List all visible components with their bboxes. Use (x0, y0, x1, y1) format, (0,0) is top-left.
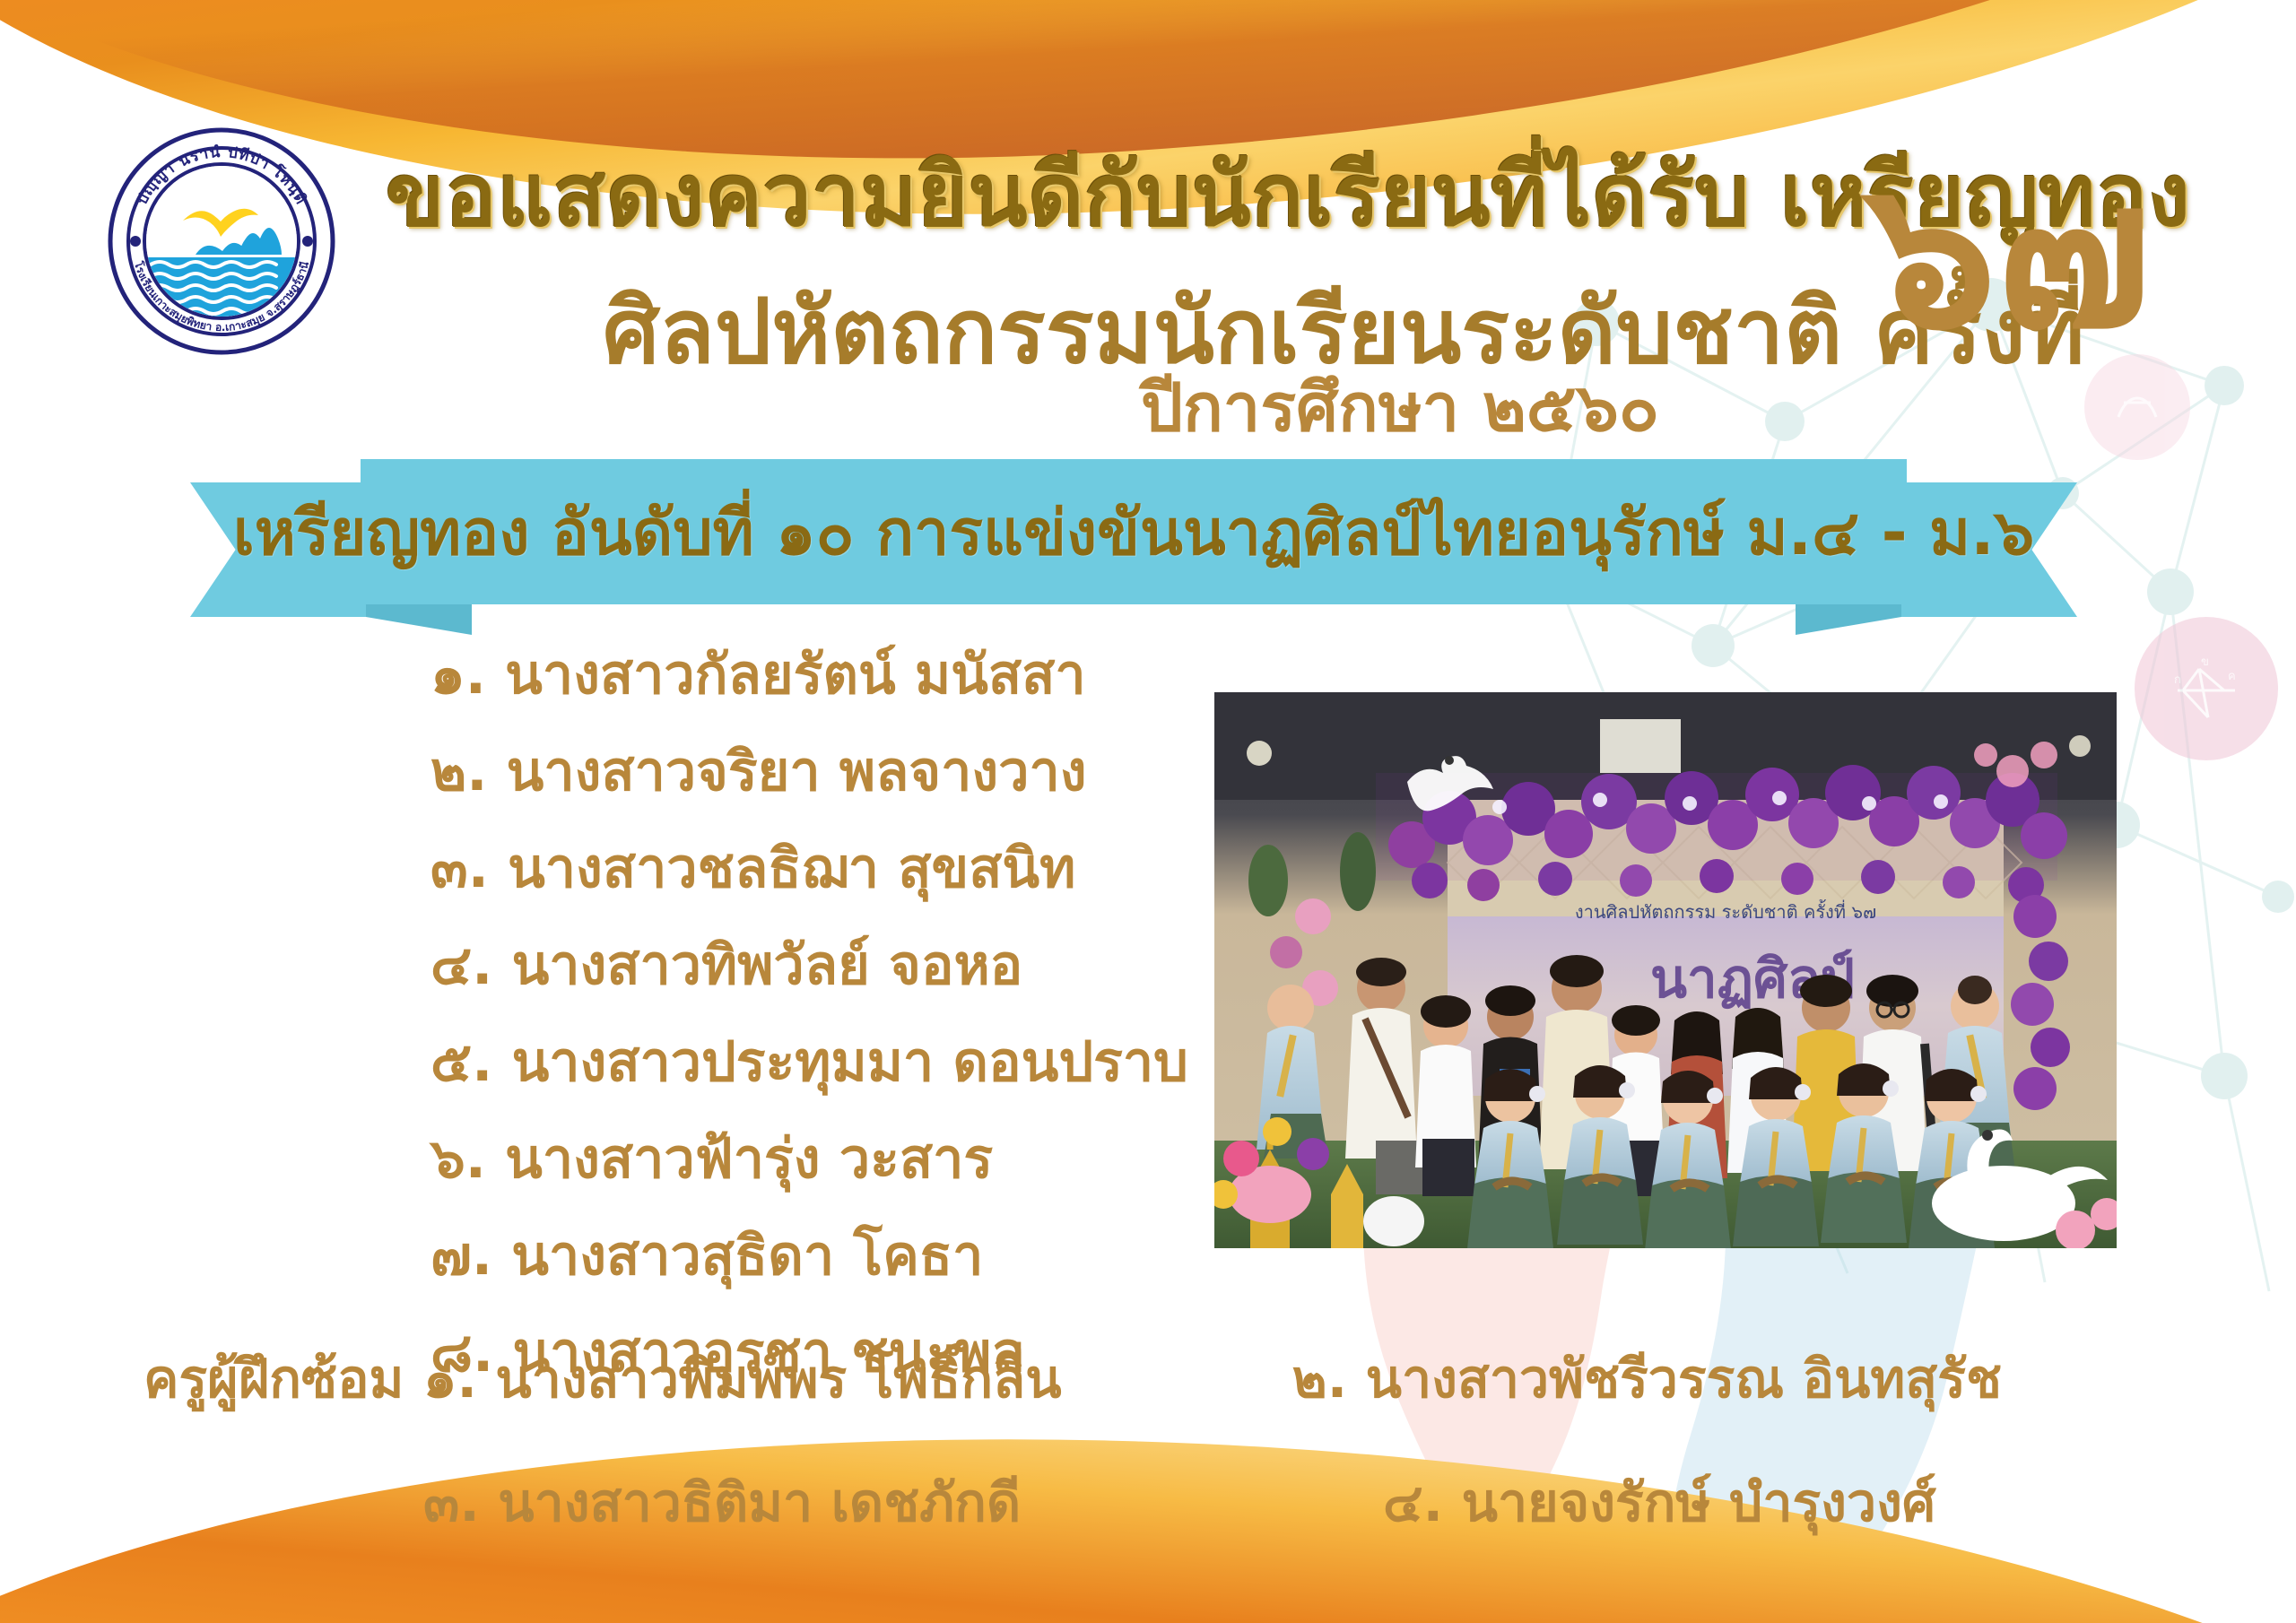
teacher-name: ๑. นางสาวพิมพ์พร โพธิ์กลิ่น (423, 1336, 1292, 1420)
ribbon-award-text: เหรียญทอง อันดับที่ ๑๐ การแข่งขันนาฏศิลป… (233, 482, 2034, 582)
poster-canvas: ก ข ค (0, 0, 2296, 1623)
student-list: ๑. นางสาวกัลยรัตน์ มนัสสา ๒. นางสาวจริยา… (430, 647, 1130, 1422)
teacher-name: ๓. นางสาวธิติมา เดชภักดี (423, 1460, 1383, 1544)
svg-text:ข: ข (2201, 655, 2209, 669)
svg-text:ก: ก (2174, 673, 2181, 687)
teacher-name: ๔. นายจงรักษ์ บำรุงวงศ์ (1383, 1460, 1935, 1544)
student-list-item: ๕. นางสาวประทุมมา ดอนปราบ (430, 1035, 1130, 1089)
header-academic-year: ปีการศึกษา ๒๕๖๐ (1141, 354, 1659, 460)
student-list-item: ๔. นางสาวทิพวัลย์ จอหอ (430, 938, 1130, 993)
teacher-row: ๓. นางสาวธิติมา เดชภักดี ๔. นายจงรักษ์ บ… (423, 1460, 2002, 1544)
teacher-name: ๒. นางสาวพัชรีวรรณ อินทสุรัช (1292, 1336, 2002, 1420)
teacher-section-label: ครูผู้ฝึกซ้อม (143, 1336, 404, 1420)
group-photo: งานศิลปหัตถกรรม ระดับชาติ ครั้งที่ ๖๗ นา… (1214, 692, 2117, 1248)
header-edition-number: ๖๗ (1865, 152, 2152, 359)
school-logo-seal: ปญฺญา นรานํ ปทีปา โหนฺติ โรงเรียนเกาะสมุ… (108, 127, 335, 355)
swoosh-top-light (0, 0, 2296, 111)
award-ribbon-banner: เหรียญทอง อันดับที่ ๑๐ การแข่งขันนาฏศิลป… (190, 459, 2077, 621)
photo-stage-caption-1: งานศิลปหัตถกรรม ระดับชาติ ครั้งที่ ๖๗ (1575, 899, 1876, 923)
teacher-name-grid: ๑. นางสาวพิมพ์พร โพธิ์กลิ่น ๒. นางสาวพัช… (423, 1336, 2002, 1584)
student-list-item: ๗. นางสาวสุธิดา โคธา (430, 1228, 1130, 1283)
decorative-badge-geometry: ก ข ค (2135, 617, 2278, 760)
student-list-item: ๓. นางสาวชลธิฌา สุขสนิท (430, 841, 1130, 896)
student-list-item: ๖. นางสาวฟ้ารุ่ง วะสาร (430, 1132, 1130, 1186)
ribbon-center-panel: เหรียญทอง อันดับที่ ๑๐ การแข่งขันนาฏศิลป… (361, 459, 1907, 604)
group-photo-illustration: งานศิลปหัตถกรรม ระดับชาติ ครั้งที่ ๖๗ นา… (1214, 692, 2117, 1248)
svg-text:ค: ค (2228, 670, 2236, 683)
header-congrats-line: ขอแสดงความยินดีกับนักเรียนที่ได้รับ เหรี… (386, 127, 1892, 264)
teacher-row: ๑. นางสาวพิมพ์พร โพธิ์กลิ่น ๒. นางสาวพัช… (423, 1336, 2002, 1420)
student-list-item: ๑. นางสาวกัลยรัตน์ มนัสสา (430, 647, 1130, 702)
student-list-item: ๒. นางสาวจริยา พลจางวาง (430, 744, 1130, 799)
